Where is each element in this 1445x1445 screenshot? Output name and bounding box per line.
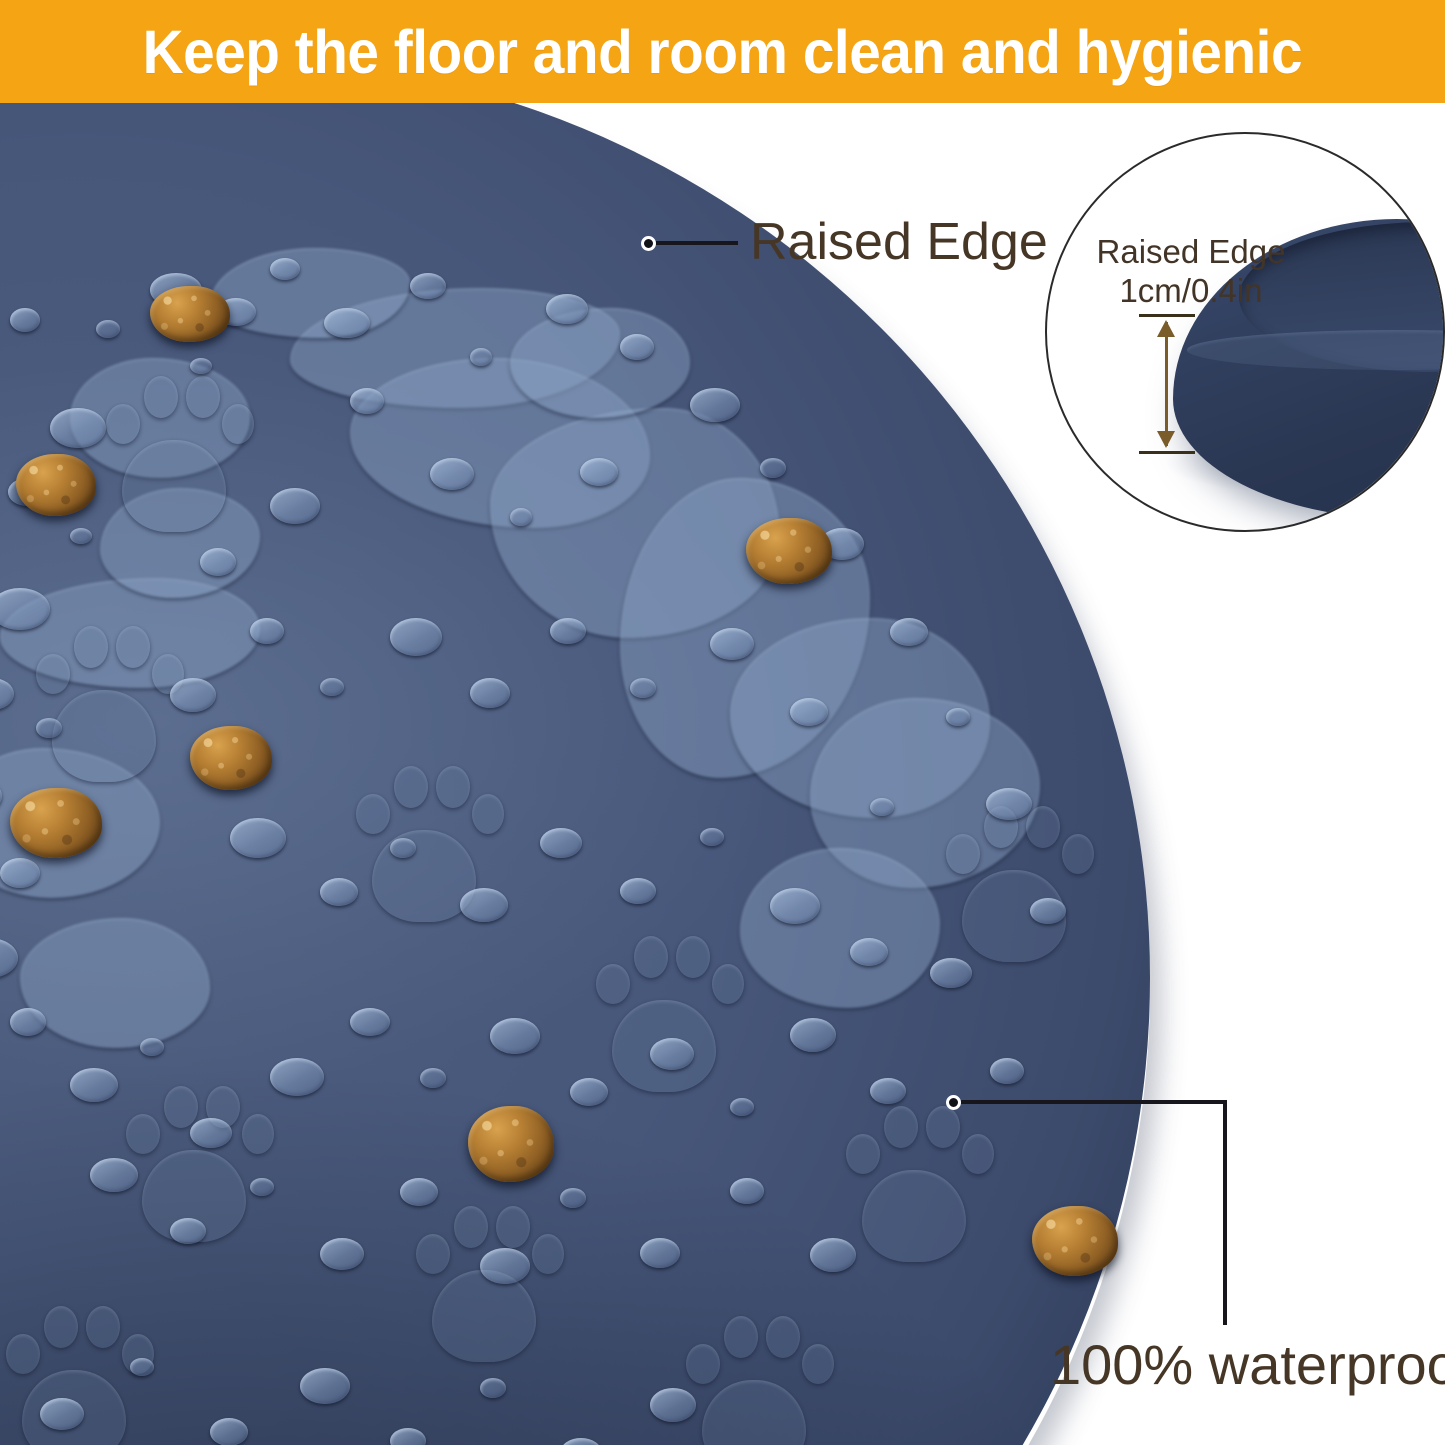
inset-label-line1: Raised Edge [1081,232,1301,271]
dimension-arrowhead-up [1157,320,1175,337]
water-droplet [140,1038,164,1056]
water-droplet [320,678,344,696]
kibble-piece [746,518,832,584]
water-droplet [320,878,358,906]
kibble-piece [16,454,96,516]
water-droplet [270,488,320,524]
paw-print-emboss [100,368,260,548]
water-droplet [760,458,786,478]
water-droplet [10,1008,46,1036]
water-droplet [480,1248,530,1284]
water-droplet [850,938,888,966]
water-droplet [250,618,284,644]
paw-print-emboss [680,1308,840,1445]
water-droplet [70,528,92,544]
water-droplet [570,1078,608,1106]
water-droplet [390,838,416,858]
water-droplet [550,618,586,644]
raised-edge-leader-line [656,241,738,245]
water-droplet [460,888,508,922]
water-droplet [790,698,828,726]
water-droplet [300,1368,350,1404]
raised-edge-magnifier-inset: Raised Edge 1cm/0.4in [1045,132,1445,532]
water-droplet [730,1098,754,1116]
water-droplet [40,1398,84,1430]
water-droplet [36,718,62,738]
water-droplet [420,1068,446,1088]
water-droplet [390,1428,426,1445]
water-droplet [546,294,588,324]
water-droplet [620,334,654,360]
water-droplet [620,878,656,904]
dimension-arrowhead-down [1157,431,1175,448]
water-droplet [230,818,286,858]
paw-print-emboss [410,1198,570,1378]
water-sheet [740,848,940,1008]
callout-waterproof-label: 100% waterproof [1050,1337,1445,1393]
water-droplet [270,258,300,280]
water-droplet [170,678,216,712]
water-droplet [130,1358,154,1376]
waterproof-leader-line-horizontal [961,1100,1227,1104]
water-droplet [490,1018,540,1054]
water-droplet [1030,898,1066,924]
dimension-tick-top [1139,314,1195,317]
paw-print-emboss [840,1098,1000,1278]
water-droplet [990,1058,1024,1084]
water-droplet [810,1238,856,1272]
kibble-piece [150,286,230,342]
water-droplet [510,508,532,526]
water-droplet [400,1178,438,1206]
dimension-arrow [1157,314,1177,454]
water-droplet [200,548,236,576]
water-droplet [70,1068,118,1102]
product-marketing-image: Keep the floor and room clean and hygien… [0,0,1445,1445]
water-droplet [580,458,618,486]
water-droplet [410,273,446,299]
waterproof-marker-dot [946,1095,961,1110]
water-droplet [96,320,120,338]
water-droplet [0,858,40,888]
callout-raised-edge-label: Raised Edge [750,216,1048,268]
water-droplet [324,308,370,338]
inset-label-line2: 1cm/0.4in [1081,271,1301,310]
water-droplet [10,308,40,332]
water-droplet [190,1118,232,1148]
water-droplet [170,1218,206,1244]
water-droplet [870,798,894,816]
dimension-tick-bottom [1139,451,1195,454]
water-droplet [700,828,724,846]
water-droplet [430,458,474,490]
banner-headline: Keep the floor and room clean and hygien… [143,17,1302,87]
paw-print-emboss [940,798,1100,978]
water-droplet [0,938,18,978]
water-droplet [560,1188,586,1208]
water-droplet [770,888,820,924]
water-droplet [640,1238,680,1268]
kibble-piece [468,1106,554,1182]
water-droplet [710,628,754,660]
water-droplet [390,618,442,656]
water-sheet [20,918,210,1048]
water-sheet [510,308,690,418]
kibble-piece [190,726,272,790]
water-droplet [210,1418,248,1445]
water-droplet [470,348,492,366]
water-droplet [890,618,928,646]
water-droplet [946,708,970,726]
water-droplet [790,1018,836,1052]
dimension-arrow-shaft [1165,322,1168,446]
water-droplet [50,408,106,448]
header-banner: Keep the floor and room clean and hygien… [0,0,1445,103]
water-droplet [870,1078,906,1104]
raised-edge-marker-dot [641,236,656,251]
water-droplet [540,828,582,858]
water-droplet [650,1388,696,1422]
water-droplet [630,678,656,698]
pet-feeding-tray [0,103,1150,1445]
water-droplet [986,788,1032,820]
water-droplet [930,958,972,988]
water-droplet [650,1038,694,1070]
water-droplet [470,678,510,708]
water-droplet [90,1158,138,1192]
water-droplet [350,1008,390,1036]
water-droplet [560,1438,602,1445]
water-droplet [480,1378,506,1398]
water-droplet [350,388,384,414]
water-droplet [0,678,14,710]
kibble-piece [1032,1206,1118,1276]
water-droplet [270,1058,324,1096]
water-droplet [320,1238,364,1270]
water-droplet [730,1178,764,1204]
kibble-piece [10,788,102,858]
paw-print-emboss [30,618,190,798]
waterproof-leader-line-vertical [1223,1100,1227,1325]
paw-print-emboss [590,928,750,1108]
water-droplet [690,388,740,422]
water-droplet [250,1178,274,1196]
water-droplet [190,358,212,374]
